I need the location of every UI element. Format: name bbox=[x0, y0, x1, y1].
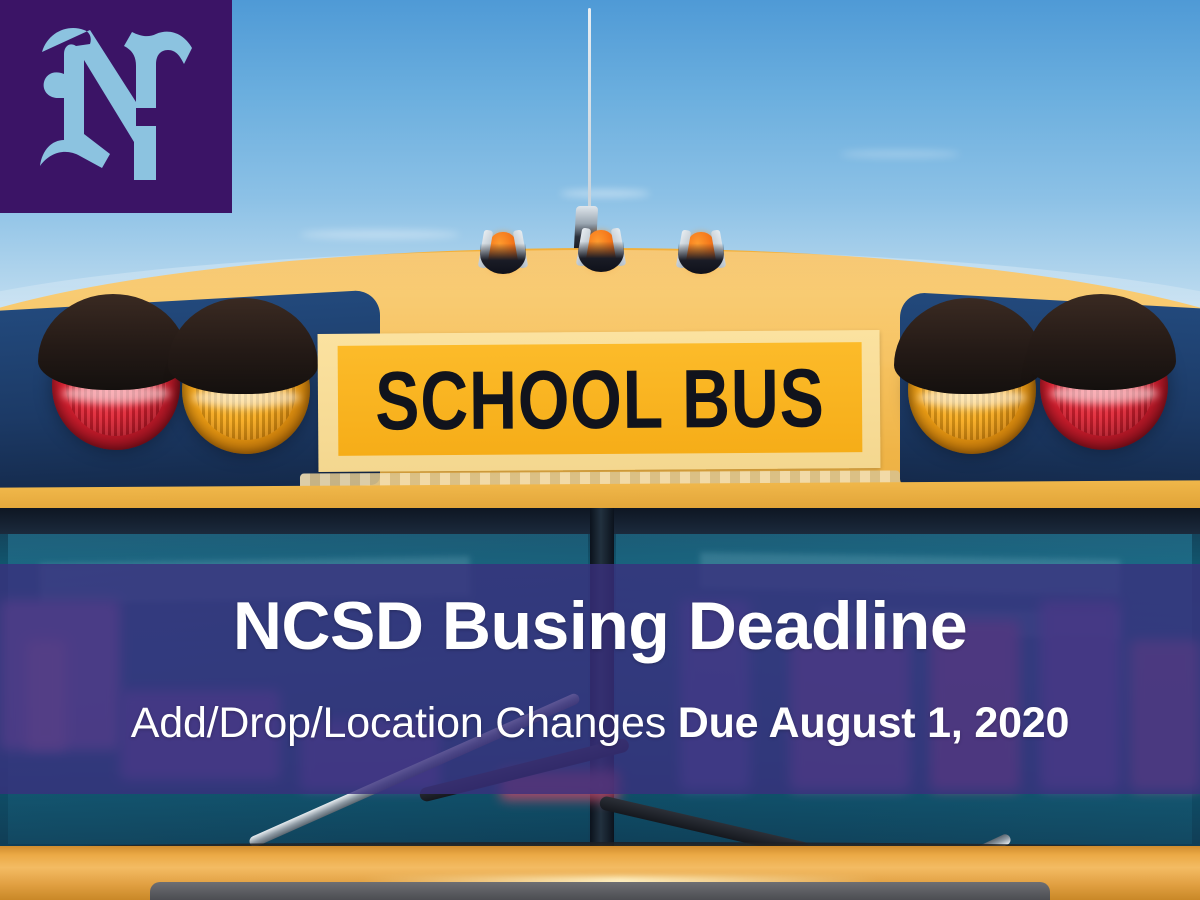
banner-headline: NCSD Busing Deadline bbox=[0, 592, 1200, 660]
banner-subline: Add/Drop/Location Changes Due August 1, … bbox=[0, 700, 1200, 747]
stop-lamp-inner-left bbox=[182, 326, 310, 454]
ncsd-monogram-n-icon bbox=[28, 16, 204, 196]
roof-marker-light bbox=[578, 226, 624, 270]
school-bus-sign-text: SCHOOL BUS bbox=[375, 356, 825, 442]
cloud-wisp bbox=[560, 190, 650, 197]
banner-subline-bold: Due August 1, 2020 bbox=[678, 699, 1069, 747]
roof-marker-light bbox=[678, 228, 724, 272]
marker-hood bbox=[578, 238, 624, 272]
banner-subline-regular: Add/Drop/Location Changes bbox=[131, 699, 678, 747]
marker-hood bbox=[678, 240, 724, 274]
school-bus-sign-face: SCHOOL BUS bbox=[338, 342, 863, 456]
stop-lamp-outer-left bbox=[52, 322, 180, 450]
cloud-wisp bbox=[300, 230, 460, 239]
ncsd-logo[interactable] bbox=[0, 0, 232, 213]
school-bus-sign: SCHOOL BUS bbox=[318, 330, 881, 472]
roof-marker-light bbox=[480, 228, 526, 272]
bus-grille bbox=[150, 882, 1050, 900]
stop-lamp-outer-right bbox=[1040, 322, 1168, 450]
stop-lamp-inner-right bbox=[908, 326, 1036, 454]
cloud-wisp bbox=[840, 150, 960, 158]
marker-hood bbox=[480, 240, 526, 274]
bus-antenna bbox=[588, 8, 591, 230]
school-bus-banner-graphic: SCHOOL BUS NCSD Busi bbox=[0, 0, 1200, 900]
